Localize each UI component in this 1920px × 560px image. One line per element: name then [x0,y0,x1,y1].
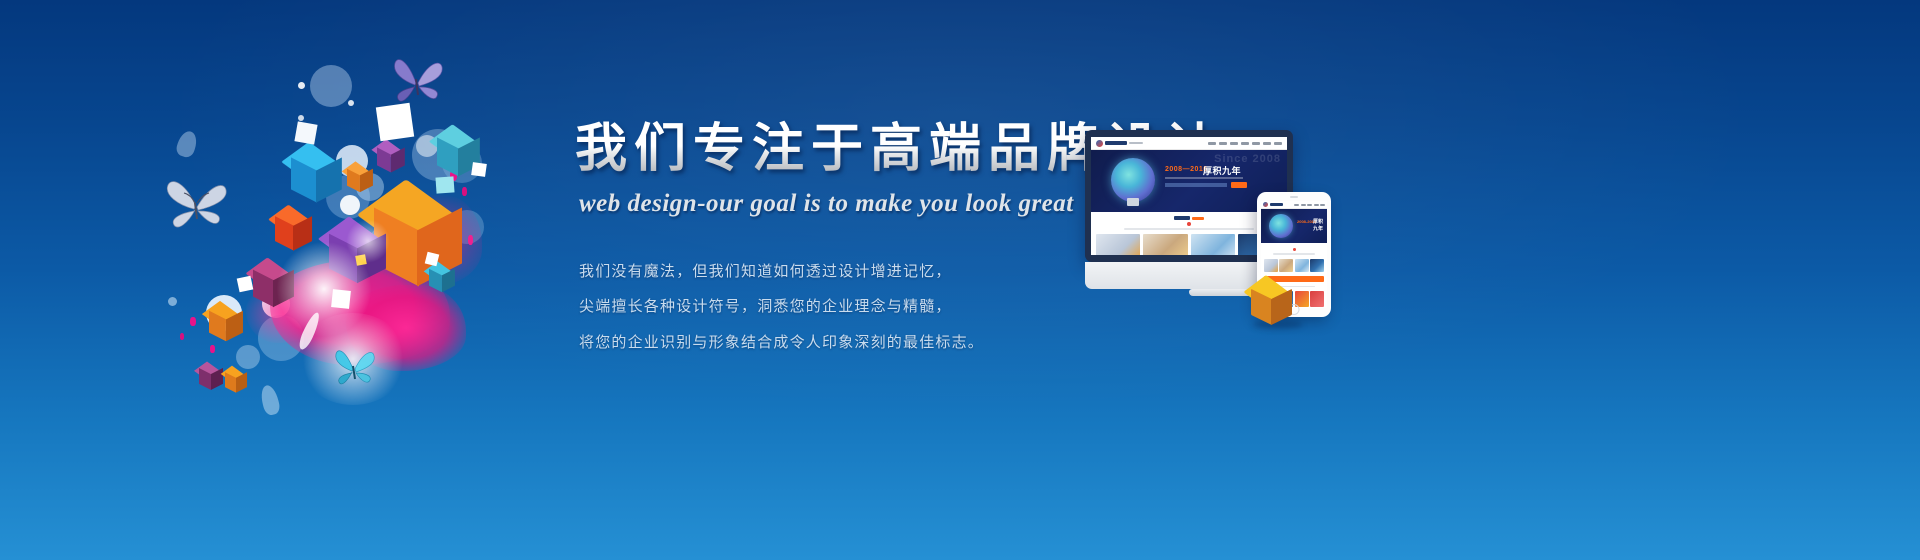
thumbnail [1310,291,1324,307]
nav-item [1320,204,1325,206]
cube-red [274,207,312,249]
thumbnail [1096,234,1140,255]
paint-speck [180,333,184,340]
deco-petal [259,384,282,417]
section-title [1096,216,1282,220]
site-logo-text [1270,203,1283,206]
light-burst [346,219,390,263]
nav-item [1241,142,1249,145]
description-line: 将您的企业识别与形象结合成令人印象深刻的最佳标志。 [579,331,1215,354]
deco-square [237,276,254,293]
hero-headline-text: 厚积九年 [1313,218,1327,232]
nav-item [1294,204,1299,206]
nav-item [1219,142,1227,145]
thumbnail [1279,259,1293,272]
deco-circle [298,115,304,121]
orange-3d-cube [1250,278,1294,324]
thumbnail [1191,234,1235,255]
nav-item [1314,204,1319,206]
thumbnail [1295,291,1309,307]
hero-cta-button [1231,182,1247,188]
butterfly-icon [330,345,378,391]
paint-speck [468,235,473,245]
cube-blue [290,145,342,201]
hero-subline [1165,183,1227,187]
hero-banner: 我们专注于高端品牌设计 web design-our goal is to ma… [0,0,1920,560]
site-logo-icon [1096,140,1103,147]
deco-circle [236,345,260,369]
deco-circle [348,100,354,106]
deco-circle [168,297,177,306]
tablet-hero-banner: 2008-2016 厚积九年 [1261,209,1327,243]
tablet-site-header [1261,201,1327,209]
paint-speck [190,317,196,326]
thumbnail-row [1096,234,1282,255]
paint-speck [210,345,215,353]
section-title-cn [1174,216,1190,220]
butterfly-icon [388,53,446,111]
nav-item [1274,142,1282,145]
site-logo-icon [1263,202,1268,207]
site-header [1091,137,1287,150]
deco-circle [340,195,360,215]
section-title-accent [1192,217,1204,220]
device-mockups: Since 2008 2008—2016 厚积九年 [1085,130,1385,330]
section-subline [1124,228,1254,230]
cube-small-amber [224,367,246,391]
cube-small-purple [198,363,222,389]
thumbnail [1143,234,1187,255]
thumbnail-row [1264,259,1324,272]
section-dot [1187,222,1191,226]
nav-item [1307,204,1312,206]
lightbulb-graphic [1269,214,1293,238]
hero-year-text: 2008—2016 [1165,166,1208,173]
nav-item [1301,204,1306,206]
section-subline [1273,253,1315,255]
hero-subline [1165,177,1243,179]
deco-circle [310,65,352,107]
thumbnail [1310,259,1324,272]
deco-square [294,121,317,144]
nav-item [1230,142,1238,145]
nav-item [1208,142,1216,145]
tablet-site-nav [1294,204,1325,206]
abstract-art-cluster [150,45,580,465]
site-nav [1208,142,1282,145]
cube-small-cyan [208,303,242,339]
cube-small-teal [428,263,454,291]
site-logo-subtext [1129,142,1143,144]
thumbnail [1295,259,1309,272]
deco-square [471,162,487,177]
nav-item [1263,142,1271,145]
deco-circle [298,82,305,89]
deco-petal [174,129,199,159]
deco-square [435,176,454,193]
lightbulb-graphic [1111,158,1155,202]
hero-headline-text: 厚积九年 [1203,164,1241,177]
nav-item [1252,142,1260,145]
cube-small-orange [346,163,372,191]
section-dot [1293,248,1296,251]
thumbnail [1264,259,1278,272]
cube-small-violet [376,141,404,171]
site-logo-text [1105,141,1127,145]
butterfly-icon [164,173,230,235]
